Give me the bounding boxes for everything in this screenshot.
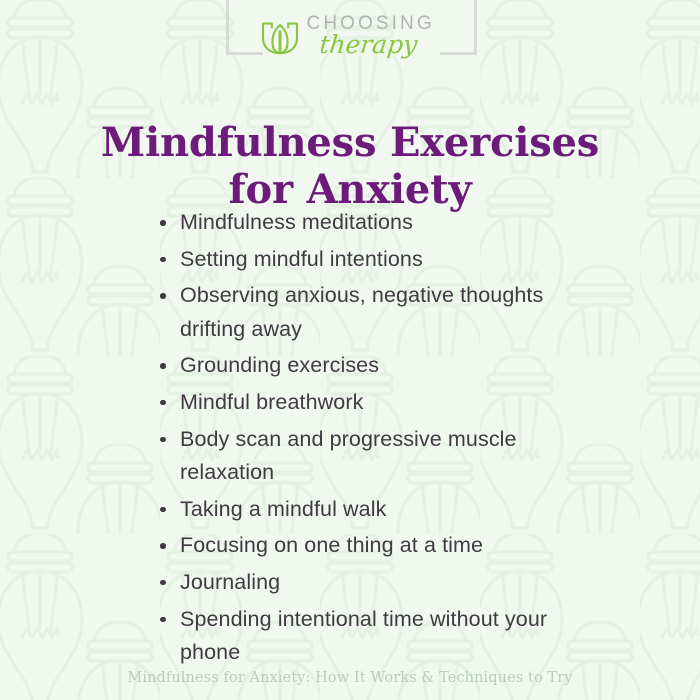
list-item: Observing anxious, negative thoughts dri… — [158, 279, 588, 346]
lotus-leaf-icon — [260, 18, 300, 56]
svg-text:therapy: therapy — [321, 30, 420, 59]
page-title: Mindfulness Exercises for Anxiety — [60, 119, 640, 213]
brand-wordmark: CHOOSING therapy — [307, 14, 441, 60]
list-item: Spending intentional time without your p… — [158, 603, 588, 670]
brand-name-script: therapy — [321, 30, 441, 60]
list-item: Grounding exercises — [158, 349, 588, 383]
footer-caption: Mindfulness for Anxiety: How It Works & … — [0, 670, 700, 686]
list-item: Body scan and progressive muscle relaxat… — [158, 423, 588, 490]
infographic-poster: CHOOSING therapy Mindfulness Exercises f… — [0, 0, 700, 700]
brand-logo: CHOOSING therapy — [0, 14, 700, 60]
list-item: Mindful breathwork — [158, 386, 588, 420]
exercise-list: Mindfulness meditations Setting mindful … — [158, 206, 588, 673]
list-item: Focusing on one thing at a time — [158, 529, 588, 563]
list-item: Setting mindful intentions — [158, 243, 588, 277]
list-item: Mindfulness meditations — [158, 206, 588, 240]
page-title-line-1: Mindfulness Exercises — [101, 119, 599, 166]
list-item: Journaling — [158, 566, 588, 600]
list-item: Taking a mindful walk — [158, 493, 588, 527]
